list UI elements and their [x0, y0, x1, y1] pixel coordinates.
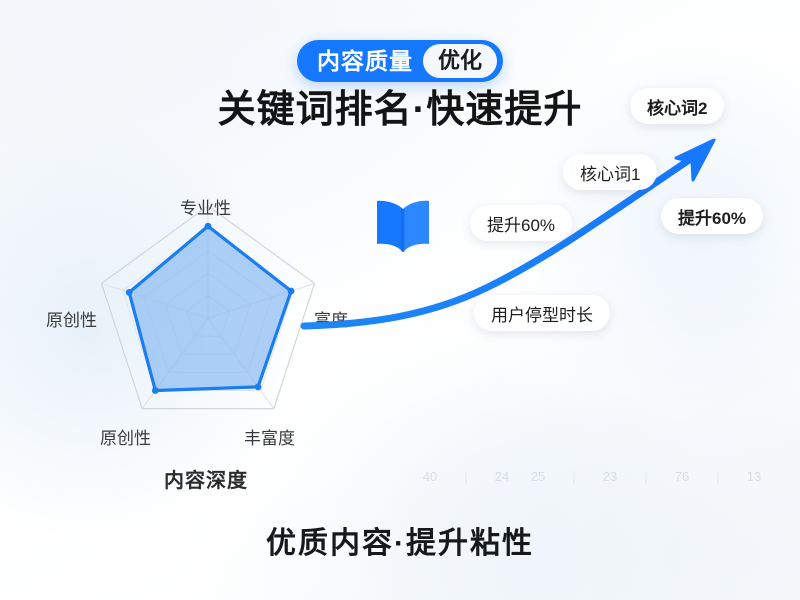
- axis-tick-separator: |: [556, 470, 592, 483]
- content-quality-badge: 内容质量 优化: [297, 40, 503, 82]
- radar-data-point: [205, 223, 212, 230]
- radar-data-point: [126, 289, 133, 296]
- axis-tick-row: 40|2425|23|76|13: [412, 466, 772, 486]
- radar-axis-label-right: 富度: [314, 306, 348, 331]
- radar-data-point: [152, 387, 159, 394]
- callout-keyword-2[interactable]: 核心词2: [630, 88, 724, 124]
- callout-keyword-1[interactable]: 核心词1: [563, 154, 657, 190]
- badge-main-label: 内容质量: [317, 50, 423, 73]
- open-book-icon-svg: [372, 188, 434, 262]
- open-book-icon: [372, 188, 434, 262]
- callout-uplift-right[interactable]: 提升60%: [661, 198, 763, 234]
- radar-data-point: [255, 383, 262, 390]
- radar-axis-label-bottom-right: 丰富度: [244, 424, 295, 449]
- axis-tick-separator: |: [628, 470, 664, 483]
- axis-tick-value: 13: [736, 470, 772, 483]
- axis-tick-separator: |: [448, 470, 484, 483]
- footer-title: 优质内容·提升粘性: [0, 518, 800, 562]
- callout-uplift-left[interactable]: 提升60%: [470, 205, 572, 241]
- radar-data-point: [288, 288, 295, 295]
- radar-axis-label-bottom-left: 原创性: [100, 424, 151, 449]
- callout-dwell-time[interactable]: 用户停型时长: [474, 295, 610, 331]
- axis-tick-value: 25: [520, 470, 556, 483]
- axis-tick-value: 40: [412, 470, 448, 483]
- poster-canvas: 内容质量 优化 关键词排名·快速提升 专业性 富度 丰富度 原创性 原创性: [0, 0, 800, 600]
- badge-chip-label: 优化: [423, 44, 497, 78]
- radar-chart: 专业性 富度 丰富度 原创性 原创性: [38, 196, 378, 461]
- content-depth-label: 内容深度: [164, 464, 248, 493]
- radar-data-area: [129, 226, 291, 390]
- radar-axis-label-left: 原创性: [46, 306, 97, 331]
- radar-axis-label-top: 专业性: [180, 194, 231, 219]
- axis-tick-value: 76: [664, 470, 700, 483]
- axis-tick-value: 23: [592, 470, 628, 483]
- growth-curve-arrowhead: [676, 140, 714, 180]
- axis-tick-value: 24: [484, 470, 520, 483]
- axis-tick-separator: |: [700, 470, 736, 483]
